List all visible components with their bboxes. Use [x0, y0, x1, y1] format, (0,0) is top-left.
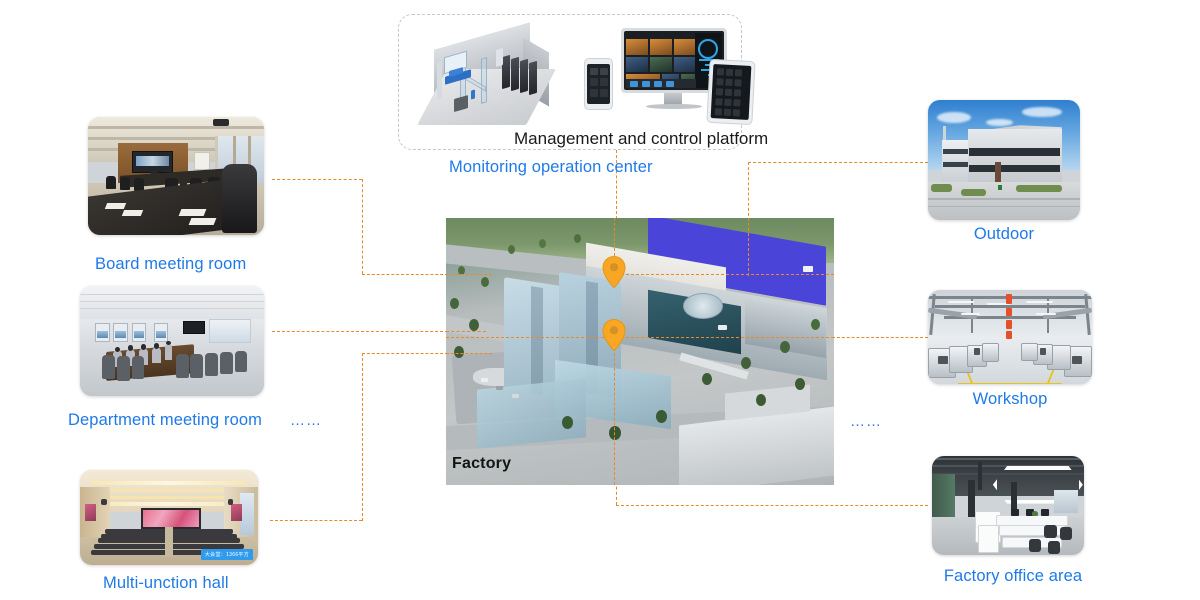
connector-hall-v [362, 353, 363, 521]
department-meeting-room-label: Department meeting room [68, 412, 262, 429]
control-devices-icon [584, 28, 754, 133]
platform-caption: Monitoring operation center [449, 159, 653, 176]
map-pin-upper[interactable] [601, 255, 627, 289]
department-meeting-room-photo[interactable] [80, 286, 264, 396]
ellipsis-left: …… [290, 412, 322, 429]
tablet-icon [706, 59, 755, 125]
smartphone-icon [584, 58, 613, 110]
ellipsis-right: …… [850, 413, 882, 430]
workshop-label: Workshop [973, 391, 1048, 408]
connector-board-meeting-room-v [362, 179, 363, 274]
board-meeting-room-label: Board meeting room [95, 256, 246, 273]
hall-watermark-badge: 大会堂：1366平方 [201, 549, 253, 560]
multifunction-hall-photo[interactable]: 大会堂：1366平方 [80, 470, 258, 565]
multifunction-hall-label: Multi-unction hall [103, 575, 229, 592]
server-room-icon [424, 30, 554, 138]
factory-label: Factory [452, 455, 511, 473]
workshop-photo[interactable] [928, 290, 1092, 384]
board-meeting-room-photo[interactable] [88, 117, 264, 235]
diagram-canvas: Management and control platform Monitori… [0, 0, 1200, 600]
factory-aerial-render[interactable] [446, 218, 834, 485]
platform-title: Management and control platform [514, 130, 768, 147]
connector-hall-h2 [362, 353, 448, 354]
connector-office-h [616, 505, 928, 506]
factory-office-photo[interactable] [932, 456, 1084, 555]
outdoor-factory-photo[interactable] [928, 100, 1080, 220]
connector-workshop-h [832, 337, 928, 338]
connector-outdoor-h [748, 162, 928, 163]
outdoor-label: Outdoor [974, 226, 1034, 243]
map-pin-lower[interactable] [601, 318, 627, 352]
connector-hall-h1 [270, 520, 362, 521]
connector-department-meeting-room-h [272, 331, 448, 332]
factory-office-label: Factory office area [944, 568, 1082, 585]
connector-board-meeting-room-h2 [362, 274, 448, 275]
connector-board-meeting-room-h1 [272, 179, 362, 180]
